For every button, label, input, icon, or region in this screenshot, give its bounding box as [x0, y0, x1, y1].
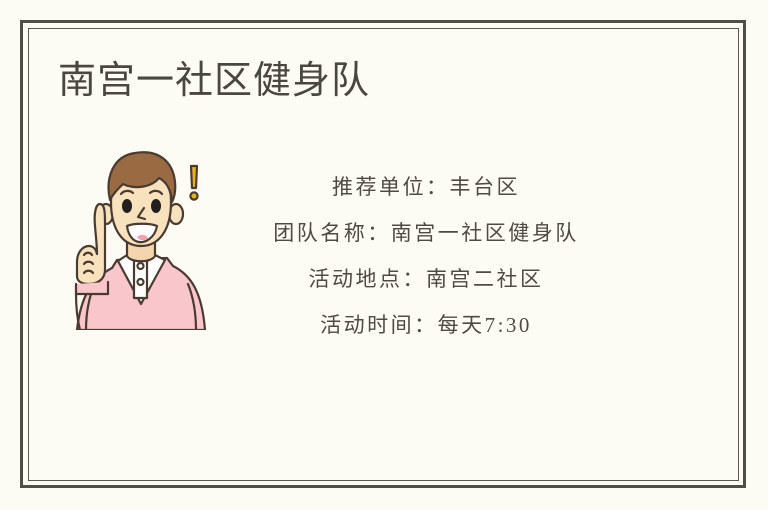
- shirt-button-bottom: [138, 279, 144, 285]
- info-line-recommending-unit: 推荐单位：丰台区: [232, 164, 620, 210]
- exclamation-mark-icon: [190, 166, 197, 200]
- info-line-activity-location: 活动地点：南宫二社区: [232, 256, 620, 302]
- page-title: 南宫一社区健身队: [58, 58, 370, 104]
- poster-page: 南宫一社区健身队: [0, 0, 768, 510]
- sleeve-cuff: [76, 282, 108, 294]
- team-info-block: 推荐单位：丰台区 团队名称：南宫一社区健身队 活动地点：南宫二社区 活动时间：每…: [232, 164, 652, 348]
- shirt-button-top: [138, 263, 144, 269]
- pointing-man-illustration: [55, 142, 227, 330]
- exclamation-dot: [190, 192, 197, 199]
- info-line-team-name: 团队名称：南宫一社区健身队: [232, 210, 620, 256]
- eye-left: [122, 199, 132, 213]
- info-line-activity-time: 活动时间：每天7:30: [232, 302, 620, 348]
- exclamation-stem: [191, 166, 197, 188]
- eye-right: [151, 199, 161, 213]
